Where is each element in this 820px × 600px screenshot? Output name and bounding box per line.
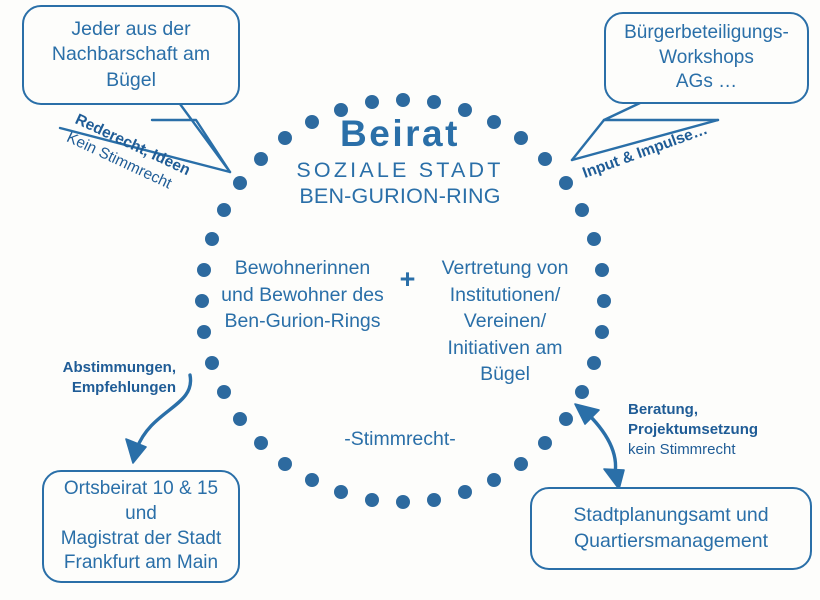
column-residents-line: Ben-Gurion-Rings	[224, 310, 380, 332]
bubble-nachbarschaft-line: Nachbarschaft am	[52, 42, 210, 67]
column-institutions-line: Vereinen/	[464, 310, 546, 332]
caption-beratung-regular: kein Stimmrecht	[628, 440, 818, 460]
arrow-beratung-head-down	[604, 469, 624, 489]
arrow-beratung-shaft	[588, 414, 616, 478]
box-stadtplanungsamt[interactable]: Stadtplanungsamt und Quartiersmanagement	[530, 487, 812, 570]
column-institutions-line: Institutionen/	[450, 284, 561, 306]
box-ortsbeirat-line: Magistrat der Stadt	[61, 527, 222, 552]
box-ortsbeirat[interactable]: Ortsbeirat 10 & 15 und Magistrat der Sta…	[42, 470, 240, 583]
column-institutions: Vertretung von Institutionen/ Vereinen/ …	[428, 255, 583, 388]
plus-icon: +	[388, 255, 428, 293]
bubble-workshops-line: AGs …	[676, 70, 737, 95]
box-ortsbeirat-line: Frankfurt am Main	[64, 551, 218, 576]
box-stadtplanungsamt-line: Stadtplanungsamt und	[573, 503, 768, 528]
caption-abstimmungen-line: Abstimmungen,	[63, 359, 176, 376]
bubble-workshops[interactable]: Bürgerbeteiligungs- Workshops AGs …	[604, 12, 809, 104]
diagram-canvas: Beirat SOZIALE STADT BEN-GURION-RING Bew…	[0, 0, 820, 600]
column-residents-line: und Bewohner	[221, 284, 347, 306]
caption-beratung-line: Beratung,	[628, 400, 818, 420]
caption-beratung-line: Projektumsetzung	[628, 420, 818, 440]
voting-rights-note: -Stimmrecht-	[280, 428, 520, 451]
bubble-tail-workshops	[604, 103, 718, 120]
bubble-nachbarschaft-line: Jeder aus der	[71, 17, 190, 42]
bubble-workshops-line: Bürgerbeteiligungs-	[624, 21, 789, 46]
box-ortsbeirat-line: und	[125, 502, 157, 527]
column-residents-line: Bewohnerinnen	[235, 257, 371, 279]
caption-abstimmungen-line: Empfehlungen	[72, 379, 176, 396]
column-institutions-line: Vertretung	[442, 257, 532, 279]
bubble-tail-workshops-point	[572, 120, 604, 160]
bubble-workshops-line: Workshops	[659, 46, 754, 71]
column-institutions-line: Initiativen	[448, 337, 530, 359]
bubble-nachbarschaft[interactable]: Jeder aus der Nachbarschaft am Bügel	[22, 5, 240, 105]
column-residents: Bewohnerinnen und Bewohner des Ben-Gurio…	[218, 255, 388, 335]
box-stadtplanungsamt-line: Quartiersmanagement	[574, 529, 768, 554]
column-residents-line: des	[352, 284, 383, 306]
caption-beratung: Beratung, Projektumsetzung kein Stimmrec…	[628, 400, 818, 460]
caption-abstimmungen: Abstimmungen, Empfehlungen	[20, 358, 176, 398]
arrow-abstimmungen-head	[126, 439, 146, 463]
membership-columns: Bewohnerinnen und Bewohner des Ben-Gurio…	[205, 255, 595, 388]
box-ortsbeirat-line: Ortsbeirat 10 & 15	[64, 477, 218, 502]
column-institutions-line: von	[537, 257, 568, 279]
bubble-nachbarschaft-line: Bügel	[106, 68, 156, 93]
